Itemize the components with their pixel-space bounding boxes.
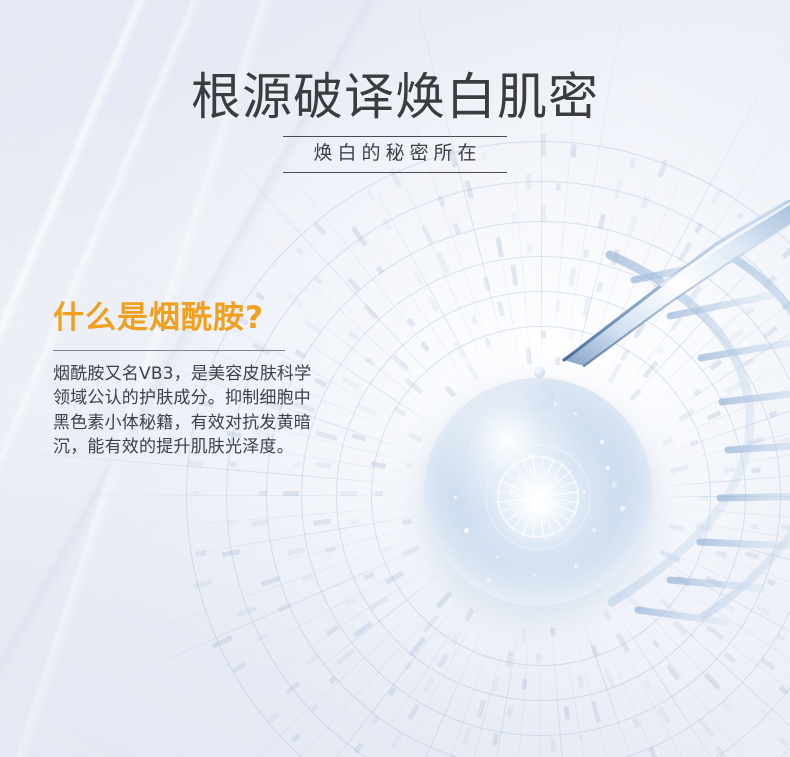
section-body-text: 烟酰胺又名VB3，是美容皮肤科学领域公认的护肤成分。抑制细胞中黑色素小体秘籍，有… [53, 362, 321, 460]
section-heading: 什么是烟酰胺? [53, 300, 321, 338]
ingredient-section: 什么是烟酰胺? 烟酰胺又名VB3，是美容皮肤科学领域公认的护肤成分。抑制细胞中黑… [53, 300, 321, 460]
subtitle-frame: 焕白的秘密所在 [283, 136, 507, 173]
headline-block: 根源破译焕白肌密 焕白的秘密所在 [0, 68, 790, 173]
section-divider [53, 350, 285, 351]
page-subtitle: 焕白的秘密所在 [283, 142, 507, 166]
page-title: 根源破译焕白肌密 [0, 68, 790, 126]
promo-banner: 根源破译焕白肌密 焕白的秘密所在 什么是烟酰胺? 烟酰胺又名VB3，是美容皮肤科… [0, 0, 790, 757]
content-overlay: 根源破译焕白肌密 焕白的秘密所在 什么是烟酰胺? 烟酰胺又名VB3，是美容皮肤科… [0, 0, 790, 757]
